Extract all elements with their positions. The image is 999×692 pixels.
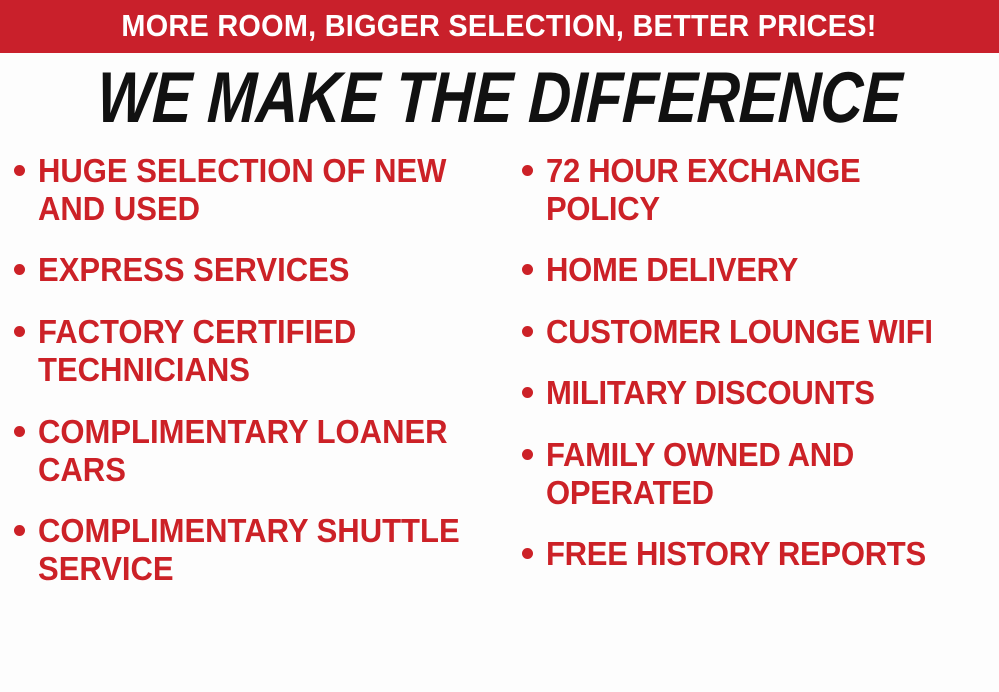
feature-label: MILITARY DISCOUNTS	[546, 374, 972, 412]
headline: WE MAKE THE DIFFERENCE	[0, 62, 999, 134]
feature-label: FREE HISTORY REPORTS	[546, 535, 972, 573]
bullet-dot-icon	[14, 264, 25, 275]
feature-item: 72 HOUR EXCHANGE POLICY	[522, 152, 999, 228]
promo-banner: MORE ROOM, BIGGER SELECTION, BETTER PRIC…	[0, 0, 999, 53]
bullet-dot-icon	[522, 165, 533, 176]
feature-label: COMPLIMENTARY SHUTTLE SERVICE	[38, 512, 476, 588]
bullet-dot-icon	[522, 264, 533, 275]
feature-label: COMPLIMENTARY LOANER CARS	[38, 413, 476, 489]
bullet-dot-icon	[522, 387, 533, 398]
features-right-column: 72 HOUR EXCHANGE POLICY HOME DELIVERY CU…	[508, 152, 999, 597]
feature-label: FACTORY CERTIFIED TECHNICIANS	[38, 313, 476, 389]
bullet-dot-icon	[522, 326, 533, 337]
feature-label: EXPRESS SERVICES	[38, 251, 476, 289]
feature-item: FAMILY OWNED AND OPERATED	[522, 436, 999, 512]
features-left-column: HUGE SELECTION OF NEW AND USED EXPRESS S…	[0, 152, 508, 612]
headline-text: WE MAKE THE DIFFERENCE	[96, 62, 904, 134]
feature-label: FAMILY OWNED AND OPERATED	[546, 436, 972, 512]
feature-item: EXPRESS SERVICES	[14, 251, 504, 289]
feature-item: CUSTOMER LOUNGE WIFI	[522, 313, 999, 351]
feature-item: COMPLIMENTARY SHUTTLE SERVICE	[14, 512, 504, 588]
feature-item: COMPLIMENTARY LOANER CARS	[14, 413, 504, 489]
feature-item: FACTORY CERTIFIED TECHNICIANS	[14, 313, 504, 389]
feature-item: HOME DELIVERY	[522, 251, 999, 289]
bullet-dot-icon	[14, 165, 25, 176]
feature-item: HUGE SELECTION OF NEW AND USED	[14, 152, 504, 228]
bullet-dot-icon	[14, 326, 25, 337]
bullet-dot-icon	[522, 548, 533, 559]
promo-banner-text: MORE ROOM, BIGGER SELECTION, BETTER PRIC…	[122, 10, 877, 43]
feature-item: FREE HISTORY REPORTS	[522, 535, 999, 573]
feature-label: 72 HOUR EXCHANGE POLICY	[546, 152, 972, 228]
feature-item: MILITARY DISCOUNTS	[522, 374, 999, 412]
feature-label: CUSTOMER LOUNGE WIFI	[546, 313, 972, 351]
features-section: HUGE SELECTION OF NEW AND USED EXPRESS S…	[0, 152, 999, 692]
feature-label: HOME DELIVERY	[546, 251, 972, 289]
bullet-dot-icon	[522, 449, 533, 460]
feature-label: HUGE SELECTION OF NEW AND USED	[38, 152, 476, 228]
bullet-dot-icon	[14, 525, 25, 536]
bullet-dot-icon	[14, 426, 25, 437]
